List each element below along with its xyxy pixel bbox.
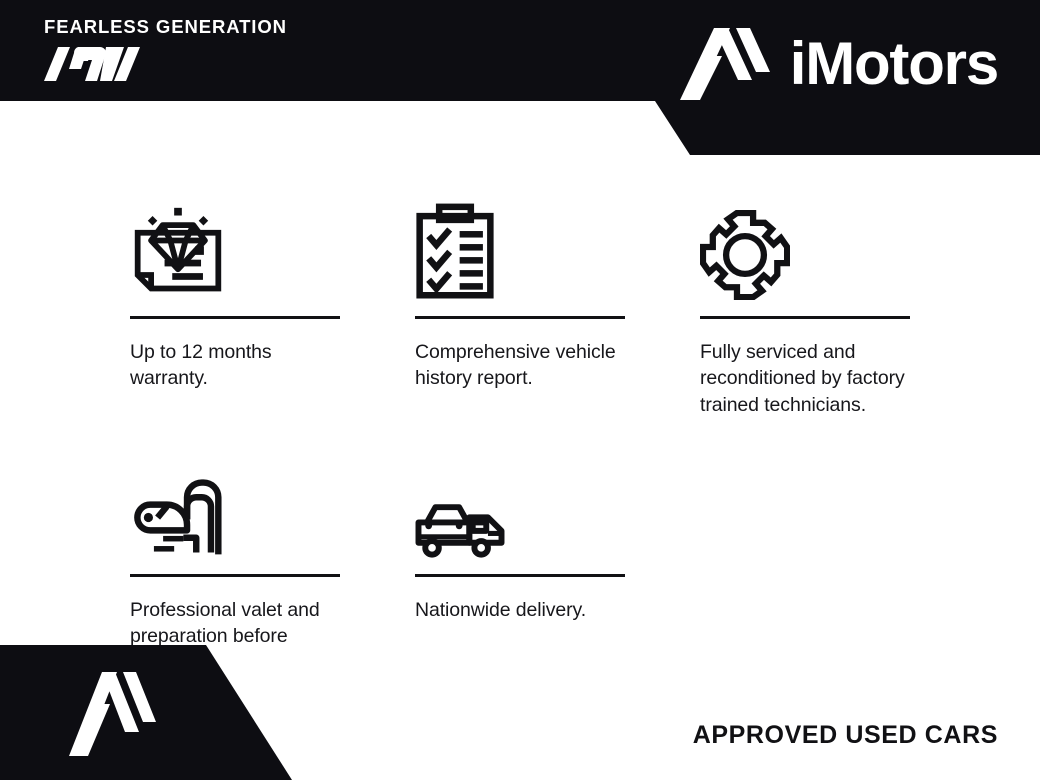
feature-item-delivery: Nationwide delivery. <box>415 440 700 676</box>
feature-row-2: Professional valet and preparation befor… <box>130 440 920 676</box>
header-brand-group: iMotors <box>678 22 998 106</box>
imotors-chevron-logo-icon <box>678 22 770 106</box>
feature-divider <box>415 316 625 319</box>
clipboard-checklist-icon <box>415 180 625 300</box>
feature-divider <box>130 574 340 577</box>
header-tagline: FEARLESS GENERATION <box>44 18 287 37</box>
feature-divider <box>130 316 340 319</box>
header-left-group: FEARLESS GENERATION <box>44 18 287 85</box>
feature-item-warranty: Up to 12 months warranty. <box>130 180 415 418</box>
car-transporter-truck-icon <box>415 440 625 558</box>
vacuum-cleaner-icon <box>130 440 340 558</box>
gear-icon <box>700 180 910 300</box>
feature-grid: Up to 12 months warranty. <box>130 180 920 676</box>
feature-label: Up to 12 months warranty. <box>130 339 340 392</box>
feature-divider <box>700 316 910 319</box>
feature-row-1: Up to 12 months warranty. <box>130 180 920 418</box>
feature-label: Fully serviced and reconditioned by fact… <box>700 339 910 418</box>
imotors-chevron-logo-icon <box>68 668 156 760</box>
footer-tagline: APPROVED USED CARS <box>693 721 998 750</box>
page-header: FEARLESS GENERATION <box>0 0 1040 156</box>
feature-item-history-report: Comprehensive vehicle history report. <box>415 180 700 418</box>
feature-item-serviced: Fully serviced and reconditioned by fact… <box>700 180 985 418</box>
feature-item-valet: Professional valet and preparation befor… <box>130 440 415 676</box>
certificate-diamond-icon <box>130 180 340 300</box>
feature-label: Comprehensive vehicle history report. <box>415 339 625 392</box>
brand-name: iMotors <box>790 34 998 94</box>
year-1971-logotype <box>44 43 140 85</box>
feature-label: Nationwide delivery. <box>415 597 625 623</box>
feature-divider <box>415 574 625 577</box>
